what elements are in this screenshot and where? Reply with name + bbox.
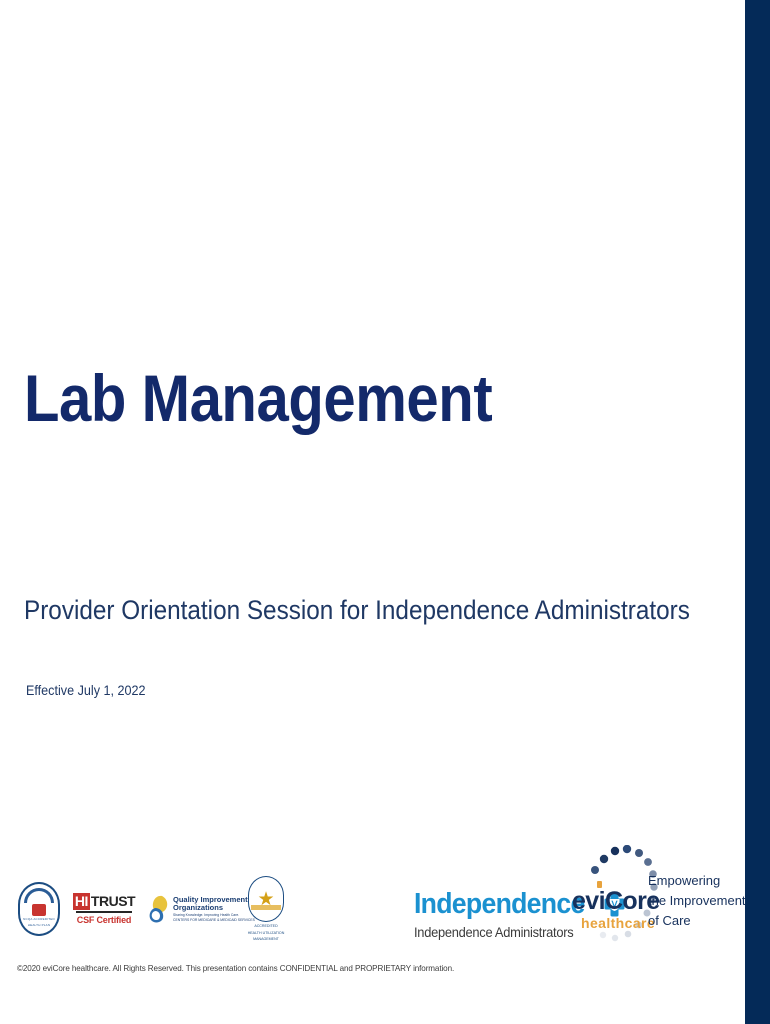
urac-label-1: ACCREDITED xyxy=(254,924,277,929)
urac-label-2: HEALTH UTILIZATION xyxy=(248,931,285,936)
urac-logo: ★ ACCREDITED HEALTH UTILIZATION MANAGEME… xyxy=(246,876,286,942)
evicore-wordmark: eviCore xyxy=(572,889,654,914)
qio-teardrop-icon xyxy=(148,894,170,924)
qio-badge: Quality Improvement Organizations Sharin… xyxy=(148,894,230,924)
hitrust-csf-text: CSF Certified xyxy=(77,915,131,925)
qio-line-2: Organizations xyxy=(173,904,255,913)
hitrust-hi-text: HI xyxy=(73,893,90,910)
urac-label-3: MANAGEMENT xyxy=(253,937,279,942)
ncqa-arc-shape xyxy=(24,888,54,903)
independence-administrators-text: Independence Administrators xyxy=(414,924,552,940)
effective-date-text: Effective July 1, 2022 xyxy=(26,682,146,698)
ncqa-seal-badge: NCQA ACCREDITED HEALTH PLAN xyxy=(18,882,60,936)
accreditation-badge-row: NCQA ACCREDITED HEALTH PLAN HI TRUST CSF… xyxy=(18,876,286,942)
hitrust-badge: HI TRUST CSF Certified xyxy=(76,893,132,925)
evicore-tagline: Empowering the Improvement of Care xyxy=(648,871,746,931)
qio-teardrop-svg xyxy=(148,894,170,924)
ncqa-core-shape xyxy=(32,904,46,916)
independence-logo: Independence Independence Administrators xyxy=(414,890,564,940)
urac-badge: ★ ACCREDITED HEALTH UTILIZATION MANAGEME… xyxy=(246,876,286,942)
evicore-tagline-line-1: Empowering xyxy=(648,871,746,891)
ncqa-seal-icon: NCQA ACCREDITED HEALTH PLAN xyxy=(18,882,60,936)
evicore-wordmark-text: eviCore xyxy=(572,887,660,915)
evicore-logo: eviCore healthcare Empowering the Improv… xyxy=(572,845,732,965)
page-title: Lab Management xyxy=(24,364,622,433)
evicore-tagline-line-3: of Care xyxy=(648,911,746,931)
evicore-i-dot-icon xyxy=(597,881,602,888)
copyright-text: ©2020 eviCore healthcare. All Rights Res… xyxy=(17,963,454,973)
urac-band-shape xyxy=(251,905,281,910)
page-subtitle: Provider Orientation Session for Indepen… xyxy=(24,595,654,626)
right-accent-bar xyxy=(745,0,770,1024)
independence-top-row: Independence xyxy=(414,890,564,919)
title-block: Lab Management xyxy=(24,364,704,433)
hitrust-divider xyxy=(76,911,132,913)
evicore-wordmark-block: eviCore healthcare xyxy=(572,889,654,930)
ncqa-seal-label-1: NCQA ACCREDITED xyxy=(23,918,55,922)
independence-wordmark: Independence xyxy=(414,890,585,919)
hitrust-trust-text: TRUST xyxy=(90,893,135,910)
urac-seal-icon: ★ xyxy=(248,876,284,922)
evicore-healthcare-text: healthcare xyxy=(572,916,654,930)
qio-text-block: Quality Improvement Organizations Sharin… xyxy=(173,896,255,923)
evicore-tagline-line-2: the Improvement xyxy=(648,891,746,911)
subtitle-block: Provider Orientation Session for Indepen… xyxy=(24,595,724,626)
qio-logo: Quality Improvement Organizations Sharin… xyxy=(148,894,230,924)
title-slide: Lab Management Provider Orientation Sess… xyxy=(0,0,770,1024)
hitrust-wordmark: HI TRUST xyxy=(73,893,135,910)
effective-date-block: Effective July 1, 2022 xyxy=(26,682,159,698)
hitrust-icon: HI TRUST CSF Certified xyxy=(76,893,132,925)
ncqa-seal-label-2: HEALTH PLAN xyxy=(28,924,50,928)
qio-line-4: CENTERS FOR MEDICARE & MEDICAID SERVICES xyxy=(173,918,255,923)
